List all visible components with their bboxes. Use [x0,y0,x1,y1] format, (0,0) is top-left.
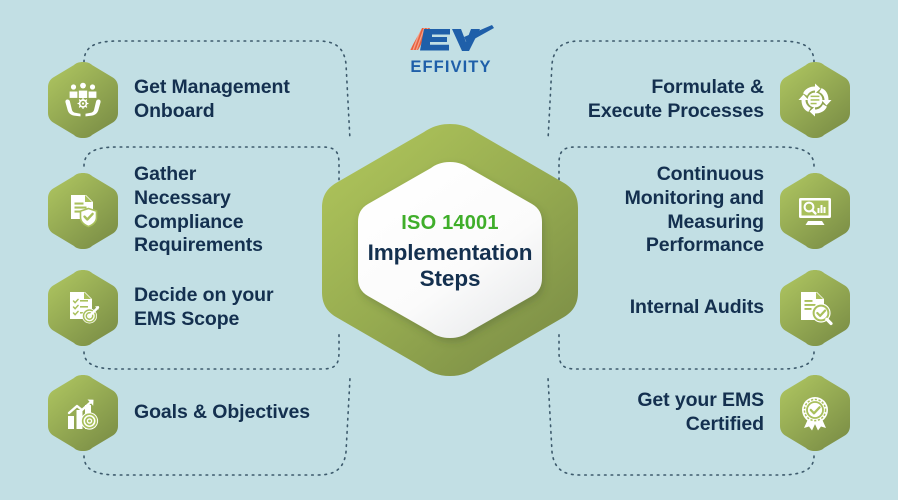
center-title-line1: Implementation [310,240,590,267]
step-label: Get your EMS Certified [637,389,764,437]
step-item-decide-ems-scope[interactable]: Decide on your EMS Scope [46,268,273,348]
step-item-get-management-onboard[interactable]: Get Management Onboard [46,60,290,140]
document-shield-check-icon [46,171,120,251]
step-hexagon [778,171,852,251]
step-label: Get Management Onboard [134,76,290,124]
step-label: Goals & Objectives [134,401,310,425]
award-ribbon-check-icon [778,373,852,453]
center-title-block: ISO 14001 Implementation Steps [310,212,590,293]
hands-holding-people-icon [46,60,120,140]
step-hexagon [46,171,120,251]
checklist-target-icon [46,268,120,348]
step-item-goals-objectives[interactable]: Goals & Objectives [46,373,310,453]
step-item-get-ems-certified[interactable]: Get your EMS Certified [637,373,852,453]
step-hexagon [778,373,852,453]
step-hexagon [46,268,120,348]
step-label: Internal Audits [630,296,764,320]
step-label: Formulate & Execute Processes [588,76,764,124]
document-magnifier-check-icon [778,268,852,348]
growth-chart-target-icon [46,373,120,453]
infographic-canvas: EFFIVITY [0,0,898,500]
step-item-continuous-monitoring[interactable]: Continuous Monitoring and Measuring Perf… [625,163,852,258]
step-label: Gather Necessary Compliance Requirements [134,163,263,258]
monitor-analytics-icon [778,171,852,251]
ev-monogram-icon [406,24,496,58]
step-hexagon [778,268,852,348]
step-item-gather-compliance-requirements[interactable]: Gather Necessary Compliance Requirements [46,163,263,258]
center-standard-label: ISO 14001 [310,212,590,236]
step-hexagon [46,373,120,453]
step-label: Decide on your EMS Scope [134,284,273,332]
brand-logo: EFFIVITY [399,24,503,80]
process-cycle-icon [778,60,852,140]
step-item-internal-audits[interactable]: Internal Audits [630,268,852,348]
step-hexagon [46,60,120,140]
center-hexagon: ISO 14001 Implementation Steps [310,120,590,380]
step-item-formulate-execute-processes[interactable]: Formulate & Execute Processes [588,60,852,140]
center-title-line2: Steps [310,266,590,293]
step-label: Continuous Monitoring and Measuring Perf… [625,163,764,258]
step-hexagon [778,60,852,140]
brand-name: EFFIVITY [399,59,503,76]
